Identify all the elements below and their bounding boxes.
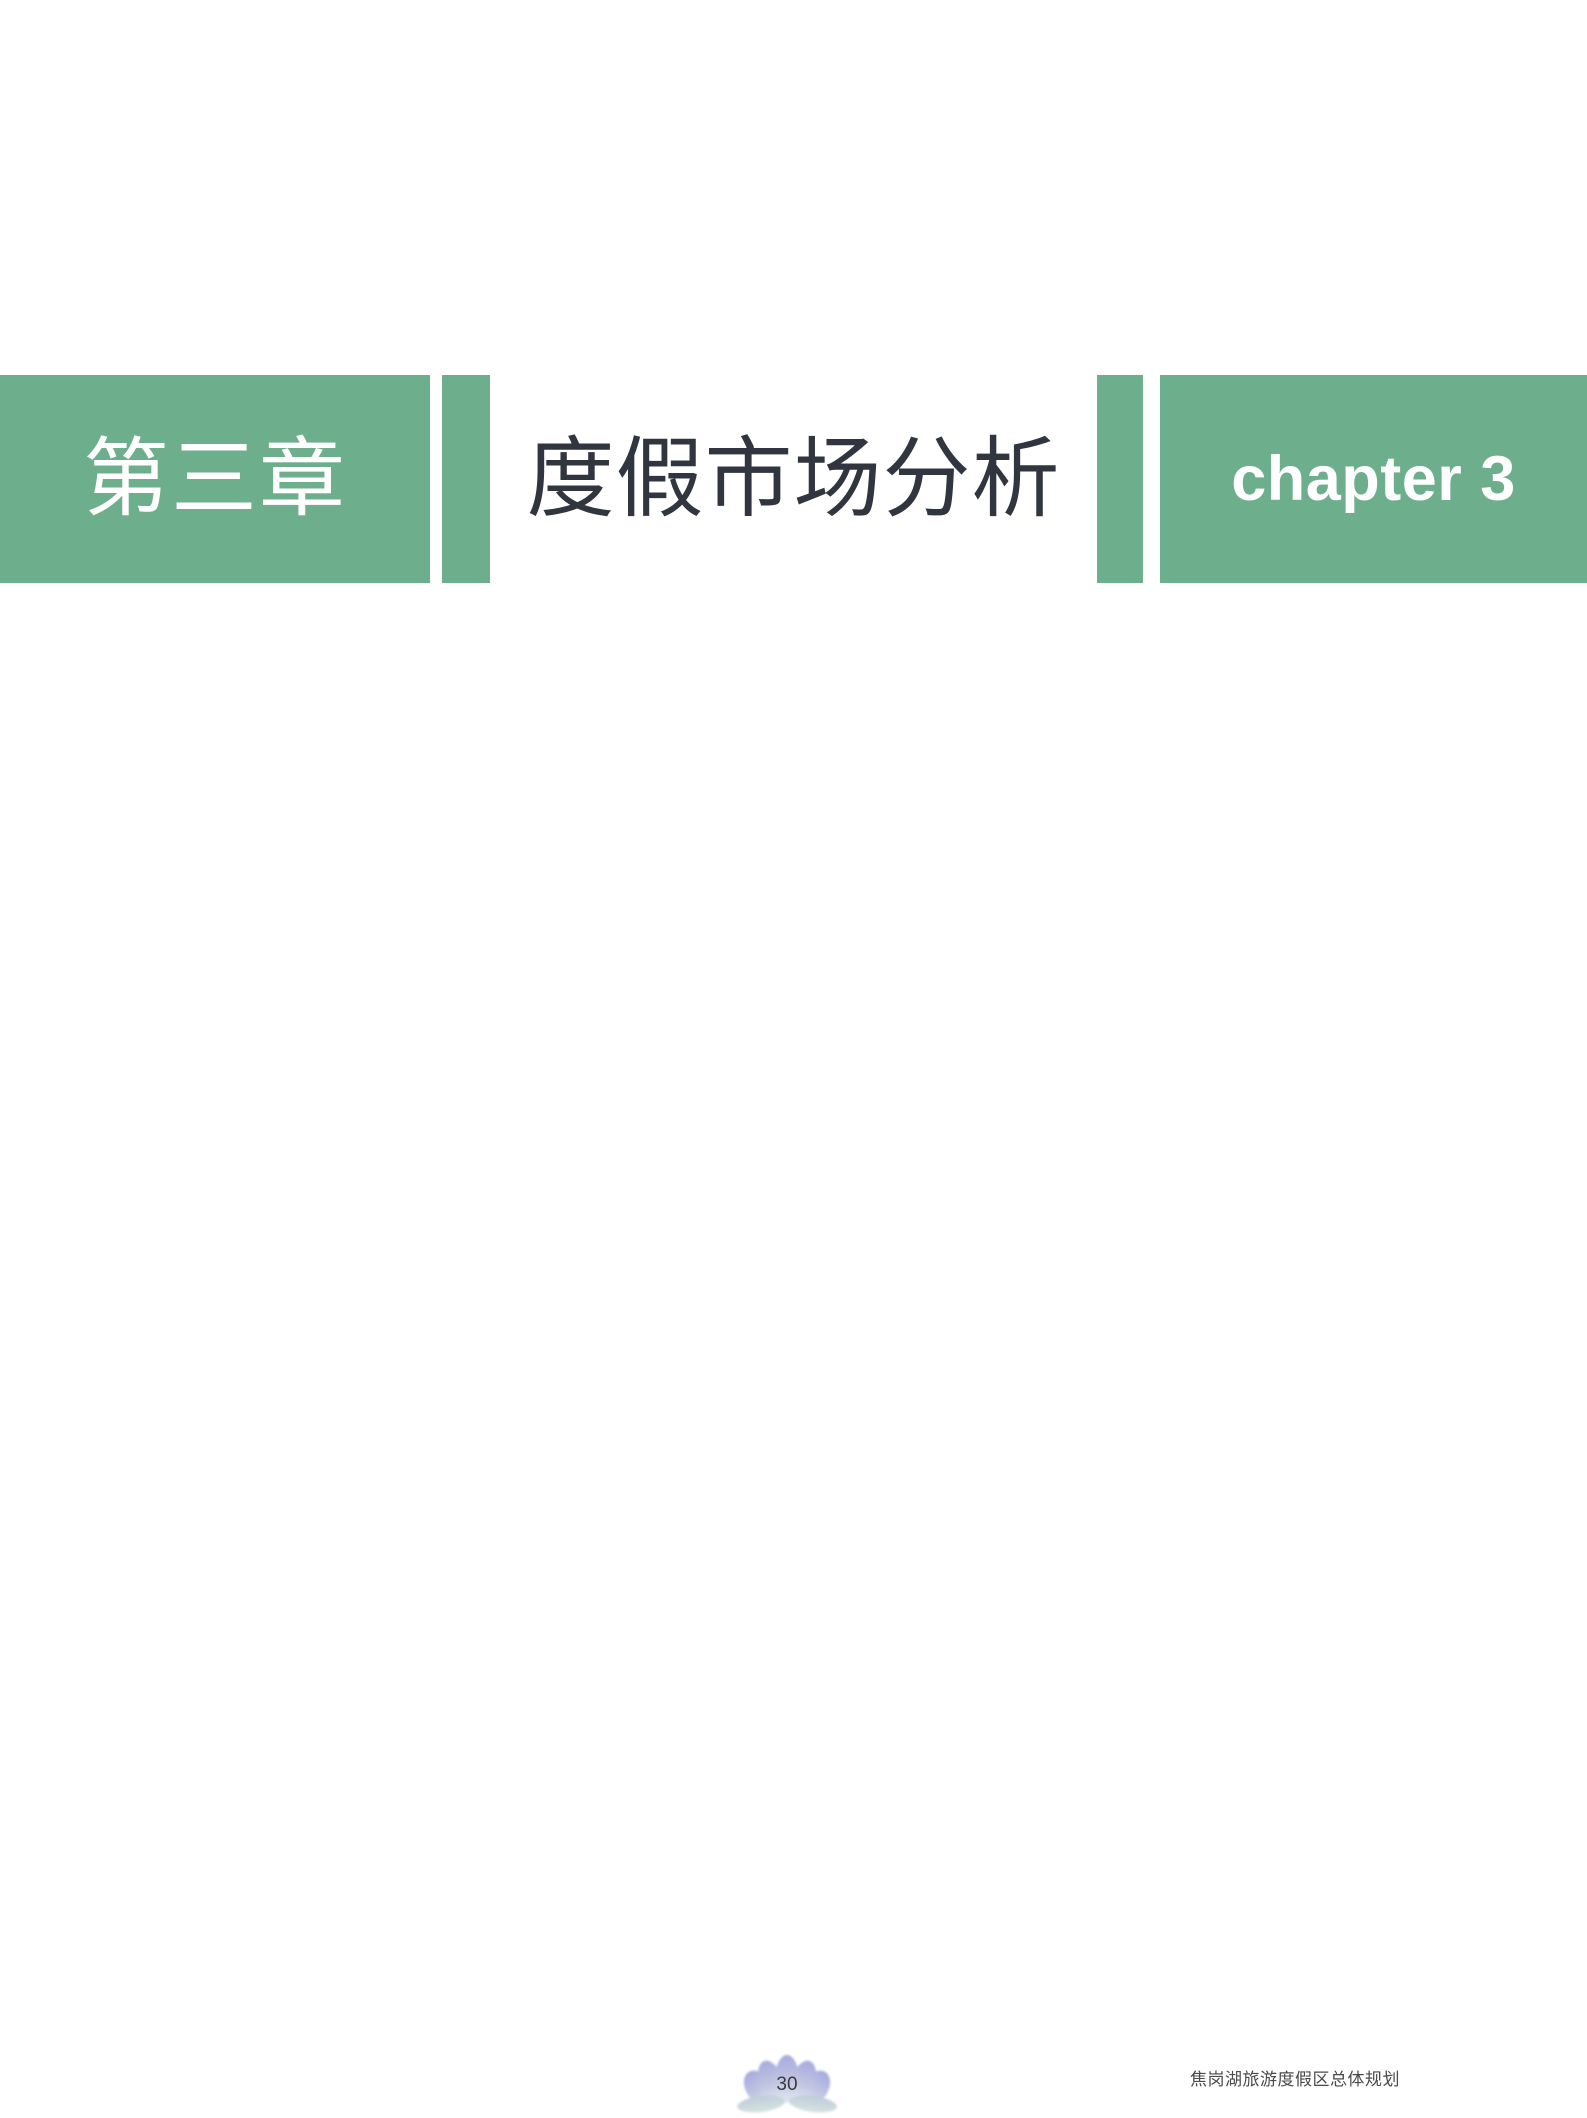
footer-caption: 焦岗湖旅游度假区总体规划 bbox=[1190, 2070, 1390, 2090]
slide-canvas: 第三章 chapter 3 度假市场分析 bbox=[0, 0, 1587, 1122]
chapter-label-block: 第三章 bbox=[0, 375, 430, 583]
section-title: 度假市场分析 bbox=[490, 375, 1097, 583]
chapter-label-en-block: chapter 3 bbox=[1160, 375, 1587, 583]
accent-bar-right bbox=[1097, 375, 1143, 583]
page-number: 30 bbox=[733, 2044, 841, 2118]
accent-bar-left bbox=[442, 375, 490, 583]
slide-footer: 30 焦岗湖旅游度假区总体规划 bbox=[0, 1020, 1587, 1122]
page-marker: 30 bbox=[733, 2044, 841, 2118]
chapter-label-en: chapter 3 bbox=[1231, 448, 1516, 511]
chapter-label-cn: 第三章 bbox=[83, 436, 347, 522]
